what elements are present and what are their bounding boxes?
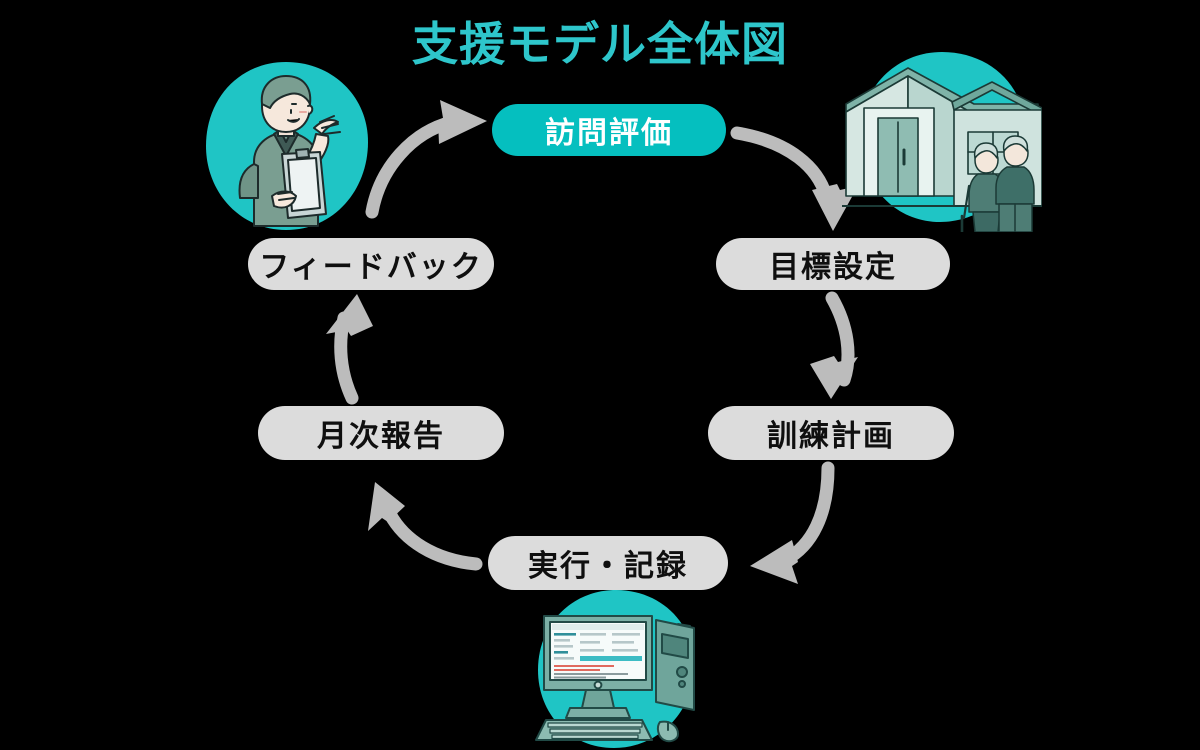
caregiver-with-clipboard-illustration [196, 58, 376, 238]
arrow-visit-to-goal [737, 133, 858, 231]
node-goal-setting-label: 目標設定 [769, 242, 897, 286]
node-execution-record-label: 実行・記録 [528, 541, 688, 585]
node-execution-record[interactable]: 実行・記録 [488, 536, 728, 590]
arrow-exec-to-report [368, 482, 476, 564]
arrow-goal-to-plan [810, 298, 858, 399]
node-monthly-report-label: 月次報告 [317, 411, 445, 455]
node-goal-setting[interactable]: 目標設定 [716, 238, 950, 290]
arrow-feedback-to-visit [372, 100, 487, 212]
node-feedback-label: フィードバック [259, 242, 482, 286]
node-monthly-report[interactable]: 月次報告 [258, 406, 504, 460]
node-feedback[interactable]: フィードバック [248, 238, 494, 290]
house-with-elderly-couple-illustration [842, 46, 1042, 232]
node-visit-assessment-label: 訪問評価 [545, 108, 673, 152]
desktop-computer-illustration [518, 588, 714, 750]
node-training-plan[interactable]: 訓練計画 [708, 406, 954, 460]
arrow-report-to-feedback [326, 294, 373, 398]
node-training-plan-label: 訓練計画 [767, 411, 895, 455]
node-visit-assessment[interactable]: 訪問評価 [492, 104, 726, 156]
arrow-plan-to-exec [750, 468, 828, 584]
diagram-canvas: 支援モデル全体図 [0, 0, 1200, 750]
